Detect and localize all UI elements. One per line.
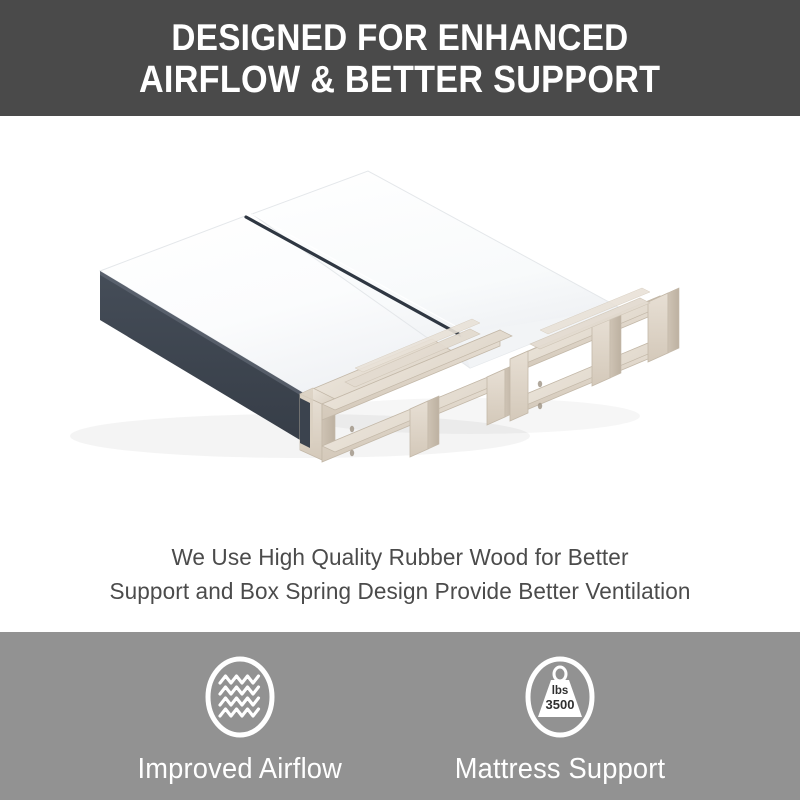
box-spring-illustration bbox=[0, 116, 800, 476]
feature-label-support: Mattress Support bbox=[455, 752, 666, 786]
feature-banner: Improved Airflow lbs 3500 Mattress Suppo… bbox=[0, 632, 800, 800]
infographic-page: DESIGNED FOR ENHANCED AIRFLOW & BETTER S… bbox=[0, 0, 800, 800]
header-banner: DESIGNED FOR ENHANCED AIRFLOW & BETTER S… bbox=[0, 0, 800, 116]
product-stage: We Use High Quality Rubber Wood for Bett… bbox=[0, 116, 800, 632]
body-line-1: We Use High Quality Rubber Wood for Bett… bbox=[16, 540, 784, 574]
headline-line-1: DESIGNED FOR ENHANCED bbox=[171, 16, 628, 59]
weight-value-text: 3500 bbox=[546, 697, 575, 712]
airflow-waves-icon bbox=[201, 654, 279, 740]
weight-unit-text: lbs bbox=[552, 685, 569, 697]
feature-label-airflow: Improved Airflow bbox=[138, 752, 343, 786]
body-description: We Use High Quality Rubber Wood for Bett… bbox=[0, 540, 800, 608]
headline-line-2: AIRFLOW & BETTER SUPPORT bbox=[139, 59, 660, 102]
weight-lbs-icon: lbs 3500 bbox=[521, 654, 599, 740]
feature-mattress-support: lbs 3500 Mattress Support bbox=[430, 632, 690, 786]
body-line-2: Support and Box Spring Design Provide Be… bbox=[16, 574, 784, 608]
feature-improved-airflow: Improved Airflow bbox=[110, 632, 370, 786]
